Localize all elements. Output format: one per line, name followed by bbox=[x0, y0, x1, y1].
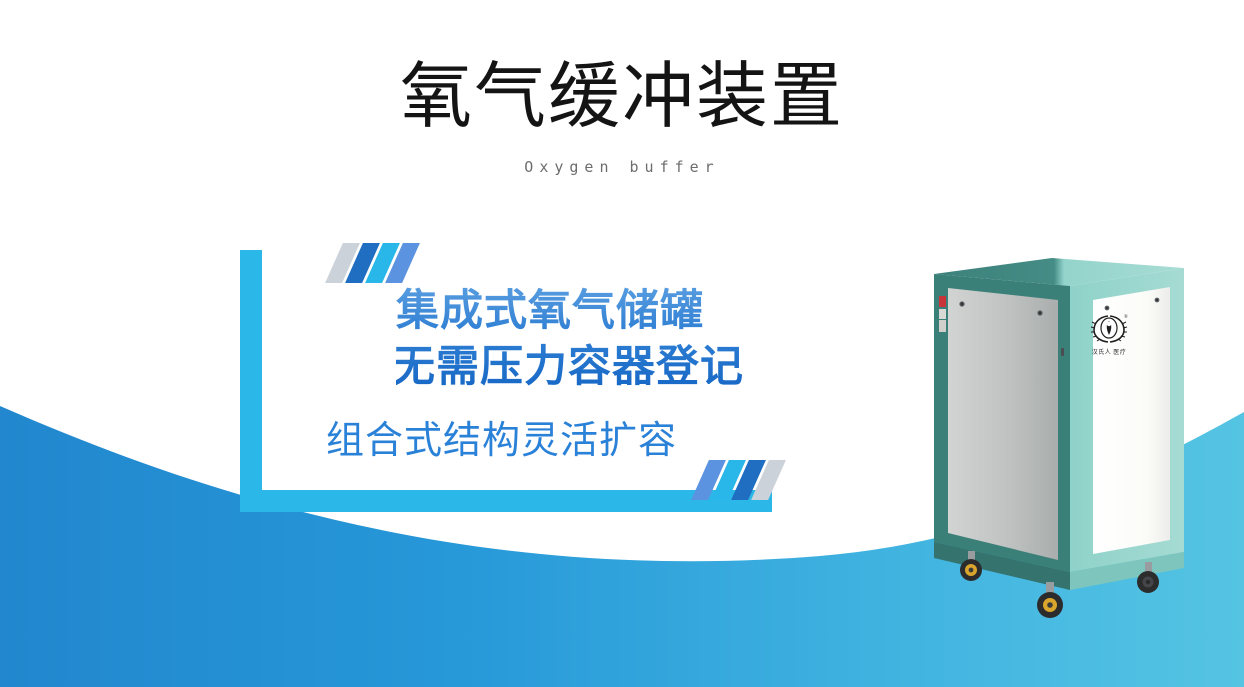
headline-line-2: 无需压力容器登记 bbox=[392, 339, 744, 395]
subheadline: 组合式结构灵活扩容 bbox=[326, 416, 677, 466]
page-subtitle: Oxygen buffer bbox=[0, 158, 1244, 176]
frame-bottom-bar bbox=[240, 490, 772, 512]
poster-canvas: 氧气缓冲装置 Oxygen buffer 集成式氧气储罐 无需压力容器登记 组合… bbox=[0, 0, 1244, 687]
stripes-top bbox=[334, 243, 411, 283]
page-title: 氧气缓冲装置 bbox=[0, 54, 1244, 140]
headline-line-1: 集成式氧气储罐 bbox=[396, 283, 744, 339]
product-image-oxygen-buffer-cabinet bbox=[930, 252, 1190, 642]
stripes-bottom bbox=[700, 460, 777, 500]
headline-group: 集成式氧气储罐 无需压力容器登记 bbox=[396, 283, 744, 395]
frame-left-bar bbox=[240, 250, 262, 512]
